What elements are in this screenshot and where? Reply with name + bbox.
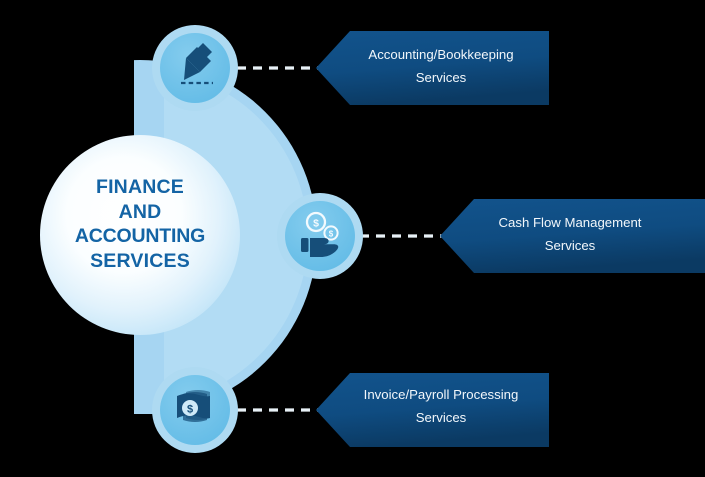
icon-node-invoice-payroll-processing[interactable]: $ [152,367,238,453]
banner-cash-flow-management[interactable] [440,199,705,273]
hub-circle [40,135,240,335]
banner-accounting-bookkeeping[interactable] [316,31,549,105]
svg-text:$: $ [313,218,319,230]
svg-text:$: $ [329,230,334,239]
diagram-canvas: $ $ $ [0,0,705,477]
icon-node-cash-flow-management[interactable]: $ $ [277,193,363,279]
banner-invoice-payroll-processing[interactable] [316,373,549,447]
svg-text:$: $ [187,404,193,416]
icon-node-accounting-bookkeeping[interactable] [152,25,238,111]
diagram-graphics-layer: $ $ $ [0,0,705,477]
